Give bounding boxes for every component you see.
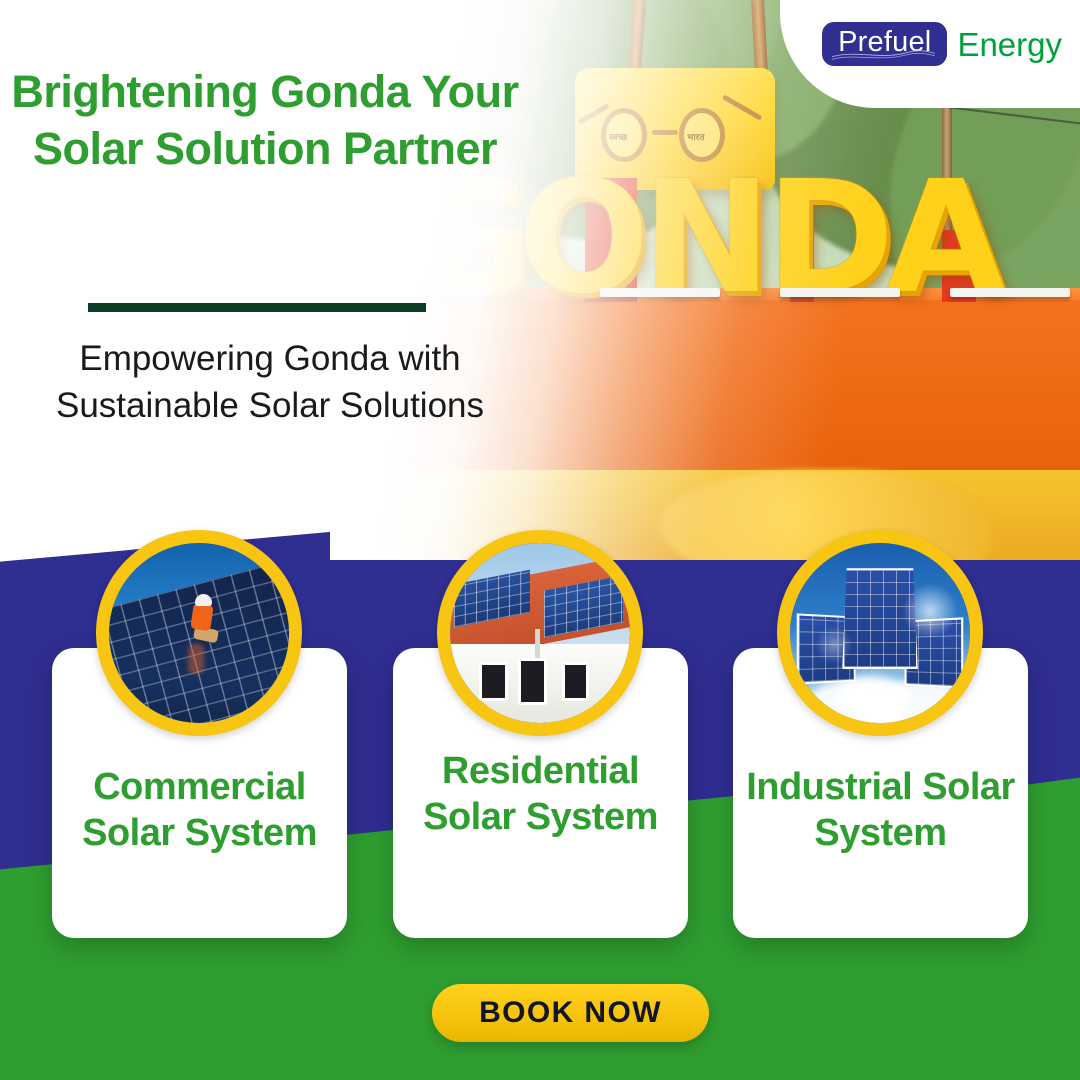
page-title: Brightening Gonda Your Solar Solution Pa… (0, 64, 530, 177)
worker-reflection (188, 644, 204, 674)
solar-marketing-poster: स्वच्छ भारत G O N D A Prefuel (0, 0, 1080, 1080)
logo-energy-text: Energy (957, 28, 1062, 61)
house-window (518, 658, 547, 705)
service-card-image-commercial (96, 530, 302, 736)
worker-body (190, 603, 213, 632)
wave-lines-icon (832, 49, 935, 61)
book-now-button[interactable]: BOOK NOW (432, 984, 709, 1042)
service-card-title: Residential Solar System (393, 748, 688, 841)
hero-bottom-fade (330, 440, 1080, 560)
logo-badge: Prefuel (822, 22, 947, 66)
cloud-shape (837, 676, 909, 719)
service-card-title: Industrial Solar System (733, 764, 1028, 857)
service-card-title: Commercial Solar System (52, 764, 347, 857)
hard-hat-icon (195, 594, 212, 606)
lens-flare-icon (902, 583, 958, 639)
page-subtitle: Empowering Gonda with Sustainable Solar … (10, 335, 530, 430)
lens-flare-icon (815, 626, 853, 664)
house-window (479, 662, 508, 702)
brand-logo[interactable]: Prefuel Energy (822, 22, 1062, 66)
service-card-image-residential (437, 530, 643, 736)
book-now-label: BOOK NOW (479, 996, 662, 1030)
house-window (562, 662, 589, 702)
title-divider (88, 303, 426, 312)
service-card-image-industrial (777, 530, 983, 736)
